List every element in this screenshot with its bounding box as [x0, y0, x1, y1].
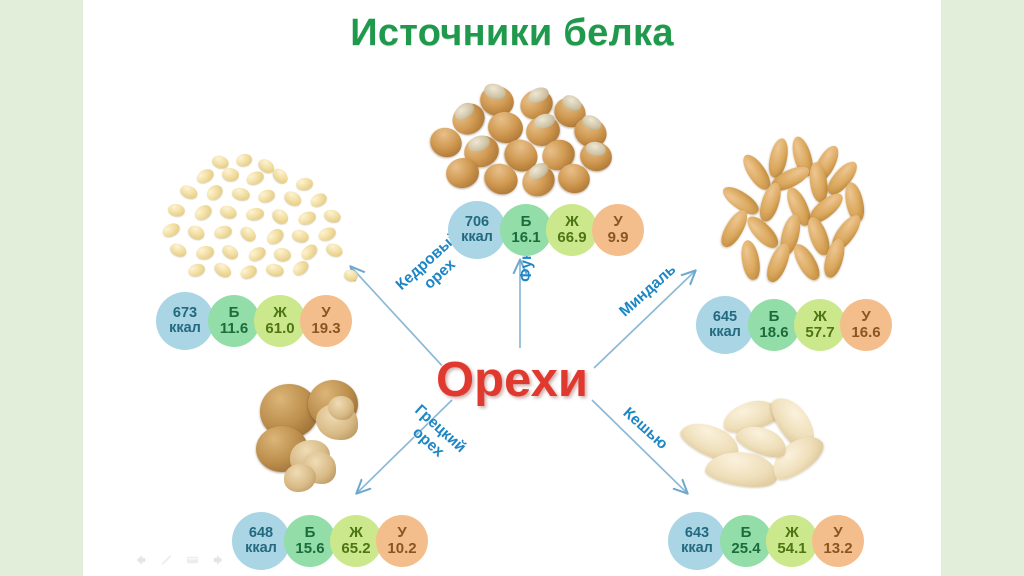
badge-protein-hazelnut: Б 16.1 — [500, 204, 552, 256]
badge-carb-pine: У 19.3 — [300, 295, 352, 347]
protein-value: 15.6 — [295, 541, 324, 557]
badge-fat-pine: Ж 61.0 — [254, 295, 306, 347]
kcal-unit: ккал — [681, 541, 713, 556]
photo-pine — [148, 152, 372, 294]
slide-toolbar[interactable] — [132, 552, 227, 568]
badge-kcal-almond: 645 ккал — [696, 296, 754, 354]
protein-value: 18.6 — [759, 325, 788, 341]
carb-value: 13.2 — [823, 541, 852, 557]
kcal-unit: ккал — [709, 325, 741, 340]
protein-value: 25.4 — [731, 541, 760, 557]
badge-protein-cashew: Б 25.4 — [720, 515, 772, 567]
protein-value: 11.6 — [220, 321, 248, 337]
kcal-unit: ккал — [461, 230, 493, 245]
badge-kcal-pine: 673 ккал — [156, 292, 214, 350]
badge-protein-pine: Б 11.6 — [208, 295, 260, 347]
protein-key: Б — [229, 305, 240, 321]
badge-carb-walnut: У 10.2 — [376, 515, 428, 567]
kcal-value: 706 — [465, 215, 489, 230]
carb-value: 16.6 — [851, 325, 880, 341]
back-arrow-icon[interactable] — [132, 552, 149, 568]
fat-value: 54.1 — [777, 541, 806, 557]
badge-protein-walnut: Б 15.6 — [284, 515, 336, 567]
protein-key: Б — [741, 525, 752, 541]
forward-arrow-icon[interactable] — [210, 552, 227, 568]
photo-almond — [718, 136, 896, 286]
badge-kcal-hazelnut: 706 ккал — [448, 201, 506, 259]
badge-fat-almond: Ж 57.7 — [794, 299, 846, 351]
pencil-icon[interactable] — [158, 552, 175, 568]
nutrition-row-walnut: 648 ккал Б 15.6 Ж 65.2 У 10.2 — [232, 512, 422, 570]
fat-value: 57.7 — [805, 325, 834, 341]
carb-key: У — [321, 305, 330, 321]
photo-cashew — [676, 398, 842, 508]
kcal-value: 645 — [713, 310, 737, 325]
nutrition-row-almond: 645 ккал Б 18.6 Ж 57.7 У 16.6 — [696, 296, 886, 354]
carb-key: У — [613, 214, 622, 230]
nutrition-row-cashew: 643 ккал Б 25.4 Ж 54.1 У 13.2 — [668, 512, 858, 570]
fat-value: 66.9 — [557, 230, 586, 246]
protein-key: Б — [305, 525, 316, 541]
nutrition-row-hazelnut: 706 ккал Б 16.1 Ж 66.9 У 9.9 — [448, 201, 638, 259]
carb-key: У — [397, 525, 406, 541]
badge-kcal-cashew: 643 ккал — [668, 512, 726, 570]
center-label: Орехи — [0, 352, 1024, 408]
badge-carb-almond: У 16.6 — [840, 299, 892, 351]
badge-carb-hazelnut: У 9.9 — [592, 204, 644, 256]
kcal-value: 643 — [685, 526, 709, 541]
kcal-unit: ккал — [245, 541, 277, 556]
carb-key: У — [833, 525, 842, 541]
keyboard-icon[interactable] — [184, 552, 201, 568]
fat-key: Ж — [349, 525, 363, 541]
carb-value: 10.2 — [387, 541, 416, 557]
fat-key: Ж — [785, 525, 799, 541]
badge-kcal-walnut: 648 ккал — [232, 512, 290, 570]
badge-fat-hazelnut: Ж 66.9 — [546, 204, 598, 256]
nutrition-row-pine: 673 ккал Б 11.6 Ж 61.0 У 19.3 — [156, 292, 346, 350]
protein-value: 16.1 — [511, 230, 540, 246]
kcal-value: 648 — [249, 526, 273, 541]
photo-hazelnut — [424, 84, 620, 204]
fat-key: Ж — [565, 214, 579, 230]
protein-key: Б — [769, 309, 780, 325]
protein-key: Б — [521, 214, 532, 230]
badge-fat-cashew: Ж 54.1 — [766, 515, 818, 567]
carb-value: 19.3 — [311, 321, 340, 337]
fat-key: Ж — [273, 305, 287, 321]
badge-fat-walnut: Ж 65.2 — [330, 515, 382, 567]
kcal-value: 673 — [173, 306, 197, 321]
carb-value: 9.9 — [608, 230, 629, 246]
carb-key: У — [861, 309, 870, 325]
fat-value: 65.2 — [341, 541, 370, 557]
badge-protein-almond: Б 18.6 — [748, 299, 800, 351]
page-title: Источники белка — [0, 12, 1024, 55]
badge-carb-cashew: У 13.2 — [812, 515, 864, 567]
slide-stage: Источники белка Орехи Кедровый орех Фунд… — [0, 0, 1024, 576]
kcal-unit: ккал — [169, 321, 201, 336]
fat-key: Ж — [813, 309, 827, 325]
fat-value: 61.0 — [265, 321, 294, 337]
